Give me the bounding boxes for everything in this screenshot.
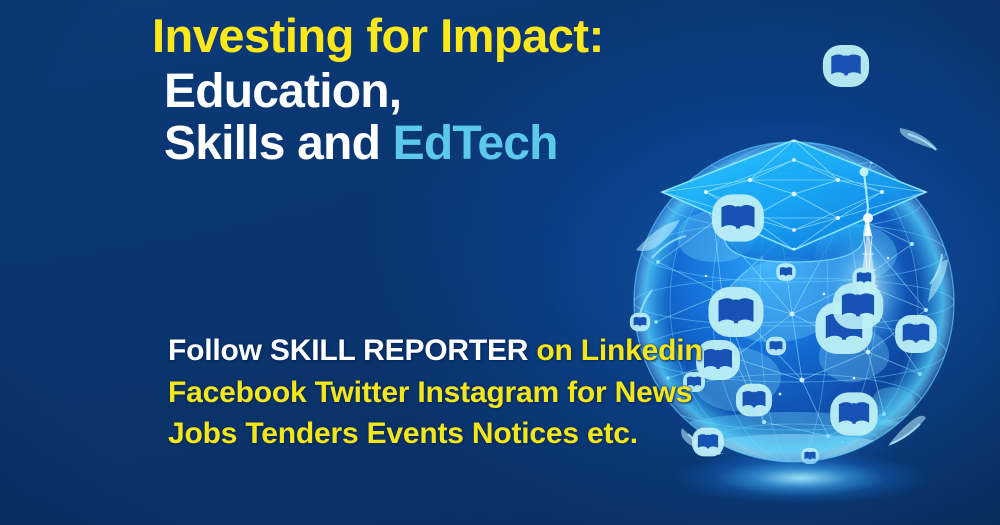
follow-cta-block: Follow SKILL REPORTER on Linkedin Facebo…: [168, 334, 703, 459]
follow-line-1: Follow SKILL REPORTER on Linkedin: [168, 334, 703, 368]
open-book-badge: [630, 313, 650, 331]
open-book-badge: [895, 315, 937, 353]
open-book-badge: [776, 263, 795, 281]
headline-line-3: Skills and EdTech: [164, 120, 604, 168]
follow-line-2: Facebook Twitter Instagram for News: [168, 376, 703, 410]
follow-line-3: Jobs Tenders Events Notices etc.: [168, 417, 703, 451]
headline-line-2: Education,: [164, 68, 604, 116]
open-book-badge: [766, 337, 786, 355]
open-book-badge: [709, 287, 764, 337]
open-book-badge: [736, 384, 772, 417]
open-book-badge: [823, 45, 869, 87]
headline-block: Investing for Impact: Education, Skills …: [152, 12, 604, 172]
open-book-badge: [830, 392, 878, 435]
poster-canvas: Investing for Impact: Education, Skills …: [0, 0, 1000, 525]
follow-brand-text: Follow SKILL REPORTER: [168, 334, 528, 367]
open-book-badge: [833, 283, 884, 329]
headline-line-1: Investing for Impact:: [152, 12, 604, 59]
headline-line-3-prefix: Skills and: [164, 117, 393, 170]
headline-line-3-accent: EdTech: [393, 117, 558, 170]
open-book-badge: [712, 194, 764, 241]
open-book-badge: [801, 448, 819, 464]
follow-platform-text: on Linkedin: [528, 334, 702, 367]
